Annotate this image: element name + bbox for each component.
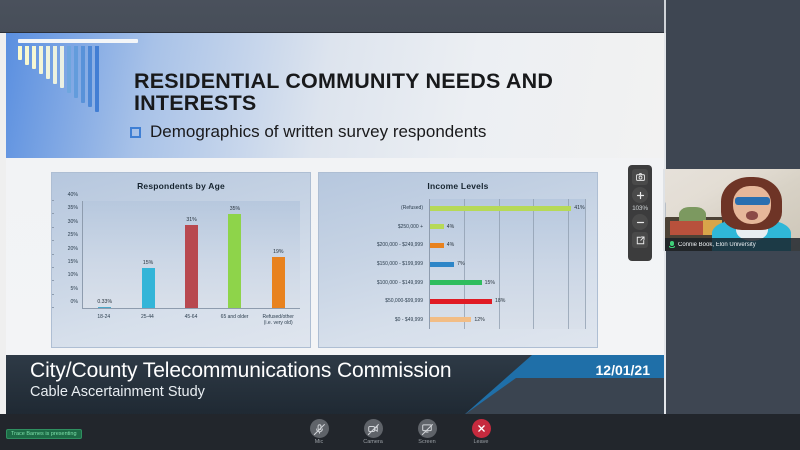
bar-slot: 4%	[430, 236, 585, 255]
bar-value-label: 31%	[186, 217, 196, 223]
slide-bullet: Demographics of written survey responden…	[130, 122, 486, 142]
presentation-slide: RESIDENTIAL COMMUNITY NEEDS AND INTEREST…	[6, 33, 664, 415]
camera-icon[interactable]	[632, 169, 648, 185]
bar-slot: 31%	[170, 201, 213, 308]
chart-title-income: Income Levels	[319, 181, 597, 191]
y-tick-label: 15%	[68, 259, 78, 265]
decoration-bar	[88, 46, 92, 107]
bar-value-label: 4%	[447, 242, 455, 248]
y-tick-mark	[51, 200, 54, 201]
bar-slot: 12%	[430, 310, 585, 329]
category-label: $0 - $49,999	[319, 310, 427, 329]
bar: 31%	[185, 225, 198, 308]
bar: 41%	[430, 206, 571, 211]
y-tick-label: 0%	[71, 299, 79, 305]
control-mic-label: Mic	[315, 439, 324, 445]
x-tick-label: Refused/other(i.e. very old)	[256, 311, 300, 343]
chart-income-levels: Income Levels (Refused)$250,000 +$200,00…	[318, 172, 598, 348]
decoration-top-bar	[18, 39, 138, 43]
decoration-bar	[67, 46, 71, 93]
bar-slot: 18%	[430, 292, 585, 311]
meeting-controls-bar: Mic Camera Screen	[0, 414, 800, 450]
category-labels-income: (Refused)$250,000 +$200,000 - $249,999$1…	[319, 199, 427, 329]
control-screen[interactable]: Screen	[407, 419, 447, 445]
zoom-level-label: 103%	[632, 205, 648, 212]
camera-off-icon[interactable]	[364, 419, 383, 438]
y-tick-mark	[51, 213, 54, 214]
bar-slot: 0.33%	[83, 201, 126, 308]
video-panel-drag-handle[interactable]	[663, 202, 666, 218]
category-label: $250,000 +	[319, 218, 427, 237]
bar: 12%	[430, 317, 471, 322]
bar: 18%	[430, 299, 492, 304]
x-tick-label: 45-64	[169, 311, 213, 343]
control-screen-label: Screen	[418, 439, 435, 445]
bar-value-label: 19%	[273, 249, 283, 255]
participant-video-tile[interactable]: Connie Book, Elon University	[663, 169, 800, 251]
decoration-bar	[60, 46, 64, 88]
bar-slot: 19%	[257, 201, 300, 308]
bar: 7%	[430, 262, 454, 267]
bar: 4%	[430, 224, 444, 229]
bar: 0.33%	[98, 307, 111, 308]
y-tick-label: 20%	[68, 246, 78, 252]
slide-title: RESIDENTIAL COMMUNITY NEEDS AND INTEREST…	[134, 71, 634, 114]
x-tick-label: 18-24	[82, 311, 126, 343]
x-tick-label: 65 and older	[213, 311, 257, 343]
bar-value-label: 4%	[447, 224, 455, 230]
decoration-bar	[95, 46, 99, 112]
shared-screen-stage[interactable]: RESIDENTIAL COMMUNITY NEEDS AND INTEREST…	[0, 33, 664, 415]
gridline	[585, 199, 586, 329]
slide-footer-banner: City/County Telecommunications Commissio…	[6, 355, 664, 415]
banner-accent-shape-2	[464, 378, 664, 415]
bar-series-age: 0.33%15%31%35%19%	[83, 201, 300, 308]
presenter-badge: Trace Barnes is presenting	[6, 429, 82, 439]
decoration-bar	[39, 46, 43, 74]
decoration-bar	[18, 46, 22, 60]
plot-area-income: 41%4%4%7%15%18%12%	[429, 199, 585, 329]
bar-value-label: 18%	[495, 298, 505, 304]
screen-share-off-icon[interactable]	[418, 419, 437, 438]
x-tick-label: 25-44	[126, 311, 170, 343]
bar: 19%	[272, 257, 285, 308]
slide-decoration	[18, 39, 138, 117]
video-bg-box-red	[670, 221, 702, 234]
slide-bullet-label: Demographics of written survey responden…	[150, 122, 486, 142]
y-tick-label: 10%	[68, 272, 78, 278]
category-label: $200,000 - $249,999	[319, 236, 427, 255]
control-camera[interactable]: Camera	[353, 419, 393, 445]
category-label: $100,000 - $149,999	[319, 273, 427, 292]
bar-value-label: 15%	[485, 280, 495, 286]
decoration-bar	[81, 46, 85, 103]
bar-slot: 7%	[430, 255, 585, 274]
bar-slot: 15%	[430, 273, 585, 292]
decoration-bar	[53, 46, 57, 84]
category-label: $50,000-$99,999	[319, 292, 427, 311]
bar-slot: 15%	[126, 201, 169, 308]
bar-slot: 41%	[430, 199, 585, 218]
bar-value-label: 41%	[574, 205, 584, 211]
close-x-icon[interactable]	[472, 419, 491, 438]
bar: 35%	[228, 214, 241, 308]
decoration-bar	[46, 46, 50, 79]
y-tick-mark	[51, 227, 54, 228]
control-mic[interactable]: Mic	[299, 419, 339, 445]
zoom-out-icon[interactable]	[632, 214, 648, 230]
chart-respondents-by-age: Respondents by Age 0%5%10%15%20%25%30%35…	[51, 172, 311, 348]
y-tick-label: 35%	[68, 205, 78, 211]
banner-date: 12/01/21	[596, 362, 651, 378]
bar-series-income: 41%4%4%7%15%18%12%	[430, 199, 585, 329]
y-tick-mark	[51, 267, 54, 268]
y-tick-mark	[51, 240, 54, 241]
window-top-bar	[0, 0, 665, 33]
avatar-mouth	[746, 211, 757, 220]
y-tick-label: 25%	[68, 232, 78, 238]
y-tick-mark	[51, 254, 54, 255]
microphone-muted-icon[interactable]	[310, 419, 329, 438]
decoration-bar	[32, 46, 36, 69]
avatar-glasses	[735, 197, 770, 205]
stage-top-divider	[664, 0, 666, 34]
bar-value-label: 0.33%	[97, 299, 112, 305]
bar-slot: 4%	[430, 218, 585, 237]
y-tick-label: 30%	[68, 219, 78, 225]
bar-value-label: 15%	[143, 260, 153, 266]
bar-slot: 35%	[213, 201, 256, 308]
banner-title: City/County Telecommunications Commissio…	[30, 359, 452, 383]
microphone-icon	[668, 241, 675, 249]
zoom-in-icon[interactable]	[632, 187, 648, 203]
bar-value-label: 35%	[230, 206, 240, 212]
decoration-bar	[74, 46, 78, 98]
control-leave-label: Leave	[474, 439, 489, 445]
y-tick-mark	[51, 294, 54, 295]
x-axis-labels-age: 18-2425-4445-6465 and olderRefused/other…	[82, 311, 300, 343]
participant-name: Connie Book, Elon University	[678, 242, 756, 248]
bar: 4%	[430, 243, 444, 248]
bar-value-label: 7%	[457, 261, 465, 267]
meeting-window: RESIDENTIAL COMMUNITY NEEDS AND INTEREST…	[0, 0, 800, 450]
zoom-toolbar[interactable]: 103%	[628, 165, 652, 261]
plot-area-age: 0%5%10%15%20%25%30%35%40% 0.33%15%31%35%…	[82, 201, 300, 309]
control-camera-label: Camera	[363, 439, 383, 445]
y-axis-age: 0%5%10%15%20%25%30%35%40%	[54, 201, 80, 308]
bar: 15%	[142, 268, 155, 308]
bar-value-label: 12%	[474, 317, 484, 323]
y-tick-mark	[51, 280, 54, 281]
category-label: (Refused)	[319, 199, 427, 218]
bar: 15%	[430, 280, 482, 285]
control-leave[interactable]: Leave	[461, 419, 501, 445]
window-top-bar-right	[665, 0, 800, 33]
banner-subtitle: Cable Ascertainment Study	[30, 384, 205, 400]
bullet-square-icon	[130, 127, 141, 138]
expand-icon[interactable]	[632, 232, 648, 248]
decoration-bar	[25, 46, 29, 65]
decoration-bars	[18, 46, 99, 112]
y-tick-mark	[51, 307, 54, 308]
y-tick-label: 40%	[68, 192, 78, 198]
y-tick-label: 5%	[71, 286, 79, 292]
participant-name-bar: Connie Book, Elon University	[665, 238, 800, 251]
chart-title-age: Respondents by Age	[52, 181, 310, 191]
category-label: $150,000 - $199,999	[319, 255, 427, 274]
